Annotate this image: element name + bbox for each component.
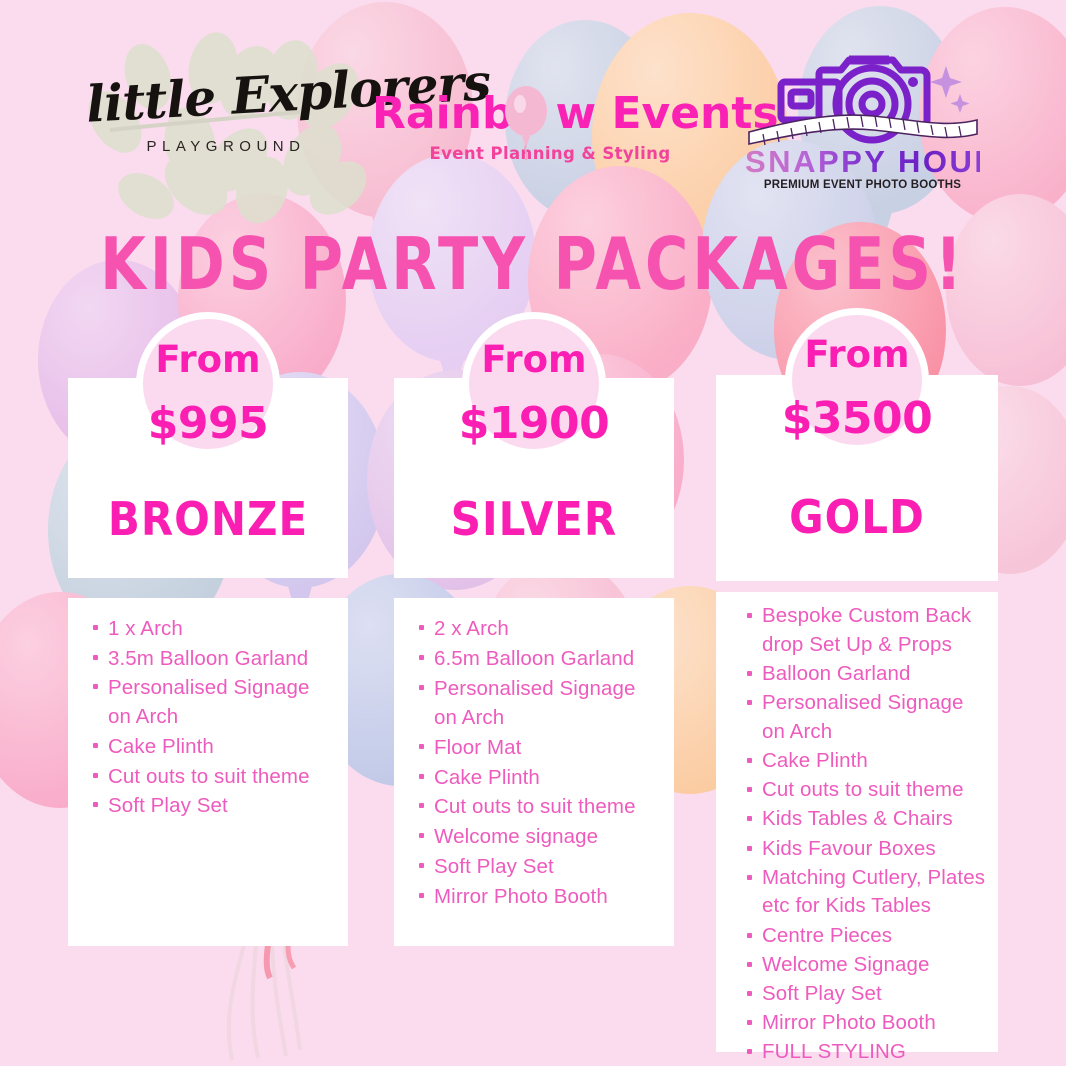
list-item: 6.5m Balloon Garland	[434, 644, 660, 673]
list-item: Kids Favour Boxes	[762, 835, 990, 864]
list-item: Welcome signage	[434, 822, 660, 851]
list-item: FULL STYLING	[762, 1038, 990, 1066]
list-item: Cut outs to suit theme	[762, 776, 990, 805]
list-item: Personalised Signage on Arch	[434, 674, 660, 733]
list-item: Cut outs to suit theme	[434, 792, 660, 821]
list-item: Soft Play Set	[108, 791, 334, 820]
list-item: Balloon Garland	[762, 660, 990, 689]
snappy-hour-tagline: PREMIUM EVENT PHOTO BOOTHS	[745, 179, 980, 191]
list-item: Bespoke Custom Back drop Set Up & Props	[762, 602, 990, 659]
list-item: 3.5m Balloon Garland	[108, 644, 334, 673]
logo-snappy-hour: SNAPPY HOUR PREMIUM EVENT PHOTO BOOTHS	[745, 48, 980, 194]
balloon-icon	[503, 86, 549, 162]
from-label: From	[394, 338, 674, 381]
sparkle-icon	[930, 66, 970, 113]
logo-rainbow-events: Rainbw Events Event Planning & Styling	[372, 92, 728, 188]
rainbow-events-main-before: Rainb	[372, 88, 513, 139]
list-item: Personalised Signage on Arch	[108, 673, 334, 731]
feature-list: 2 x Arch 6.5m Balloon Garland Personalis…	[400, 614, 668, 911]
snappy-hour-wordmark: SNAPPY HOUR	[745, 144, 980, 180]
list-item: Welcome Signage	[762, 951, 990, 980]
feature-list: 1 x Arch 3.5m Balloon Garland Personalis…	[74, 614, 342, 820]
poster-canvas: little Explorers PLAYGROUND Rainbw Event…	[0, 0, 1066, 1066]
little-explorers-script: little Explorers	[85, 64, 367, 130]
price-value: $995	[68, 398, 348, 449]
rainbow-events-subtitle: Event Planning & Styling	[372, 144, 728, 163]
list-item: 2 x Arch	[434, 614, 660, 643]
list-item: Cut outs to suit theme	[108, 762, 334, 791]
list-item: Matching Cutlery, Plates etc for Kids Ta…	[762, 864, 990, 921]
list-item: Centre Pieces	[762, 922, 990, 951]
feature-list-panel: 1 x Arch 3.5m Balloon Garland Personalis…	[68, 598, 348, 946]
tier-name: GOLD	[716, 490, 998, 544]
little-explorers-subtitle: PLAYGROUND	[86, 138, 366, 155]
list-item: Kids Tables & Chairs	[762, 805, 990, 834]
price-value: $1900	[394, 398, 674, 449]
logo-row: little Explorers PLAYGROUND Rainbw Event…	[0, 0, 1066, 200]
page-title: KIDS PARTY PACKAGES!	[0, 222, 1066, 306]
feature-list: Bespoke Custom Back drop Set Up & Props …	[722, 602, 992, 1066]
from-label: From	[68, 338, 348, 381]
list-item: Mirror Photo Booth	[762, 1009, 990, 1038]
tier-name: BRONZE	[68, 492, 348, 546]
list-item: Mirror Photo Booth	[434, 882, 660, 911]
logo-little-explorers: little Explorers PLAYGROUND	[86, 72, 366, 182]
list-item: 1 x Arch	[108, 614, 334, 643]
list-item: Floor Mat	[434, 733, 660, 762]
list-item: Cake Plinth	[108, 732, 334, 761]
feature-list-panel: 2 x Arch 6.5m Balloon Garland Personalis…	[394, 598, 674, 946]
list-item: Personalised Signage on Arch	[762, 689, 990, 746]
rainbow-events-wordmark: Rainbw Events	[372, 92, 728, 136]
tier-name: SILVER	[394, 492, 674, 546]
feature-list-panel: Bespoke Custom Back drop Set Up & Props …	[716, 592, 998, 1052]
price-value: $3500	[716, 393, 998, 444]
list-item: Cake Plinth	[434, 763, 660, 792]
list-item: Soft Play Set	[762, 980, 990, 1009]
camera-icon	[745, 48, 980, 148]
from-label: From	[716, 333, 998, 376]
list-item: Cake Plinth	[762, 747, 990, 776]
list-item: Soft Play Set	[434, 852, 660, 881]
